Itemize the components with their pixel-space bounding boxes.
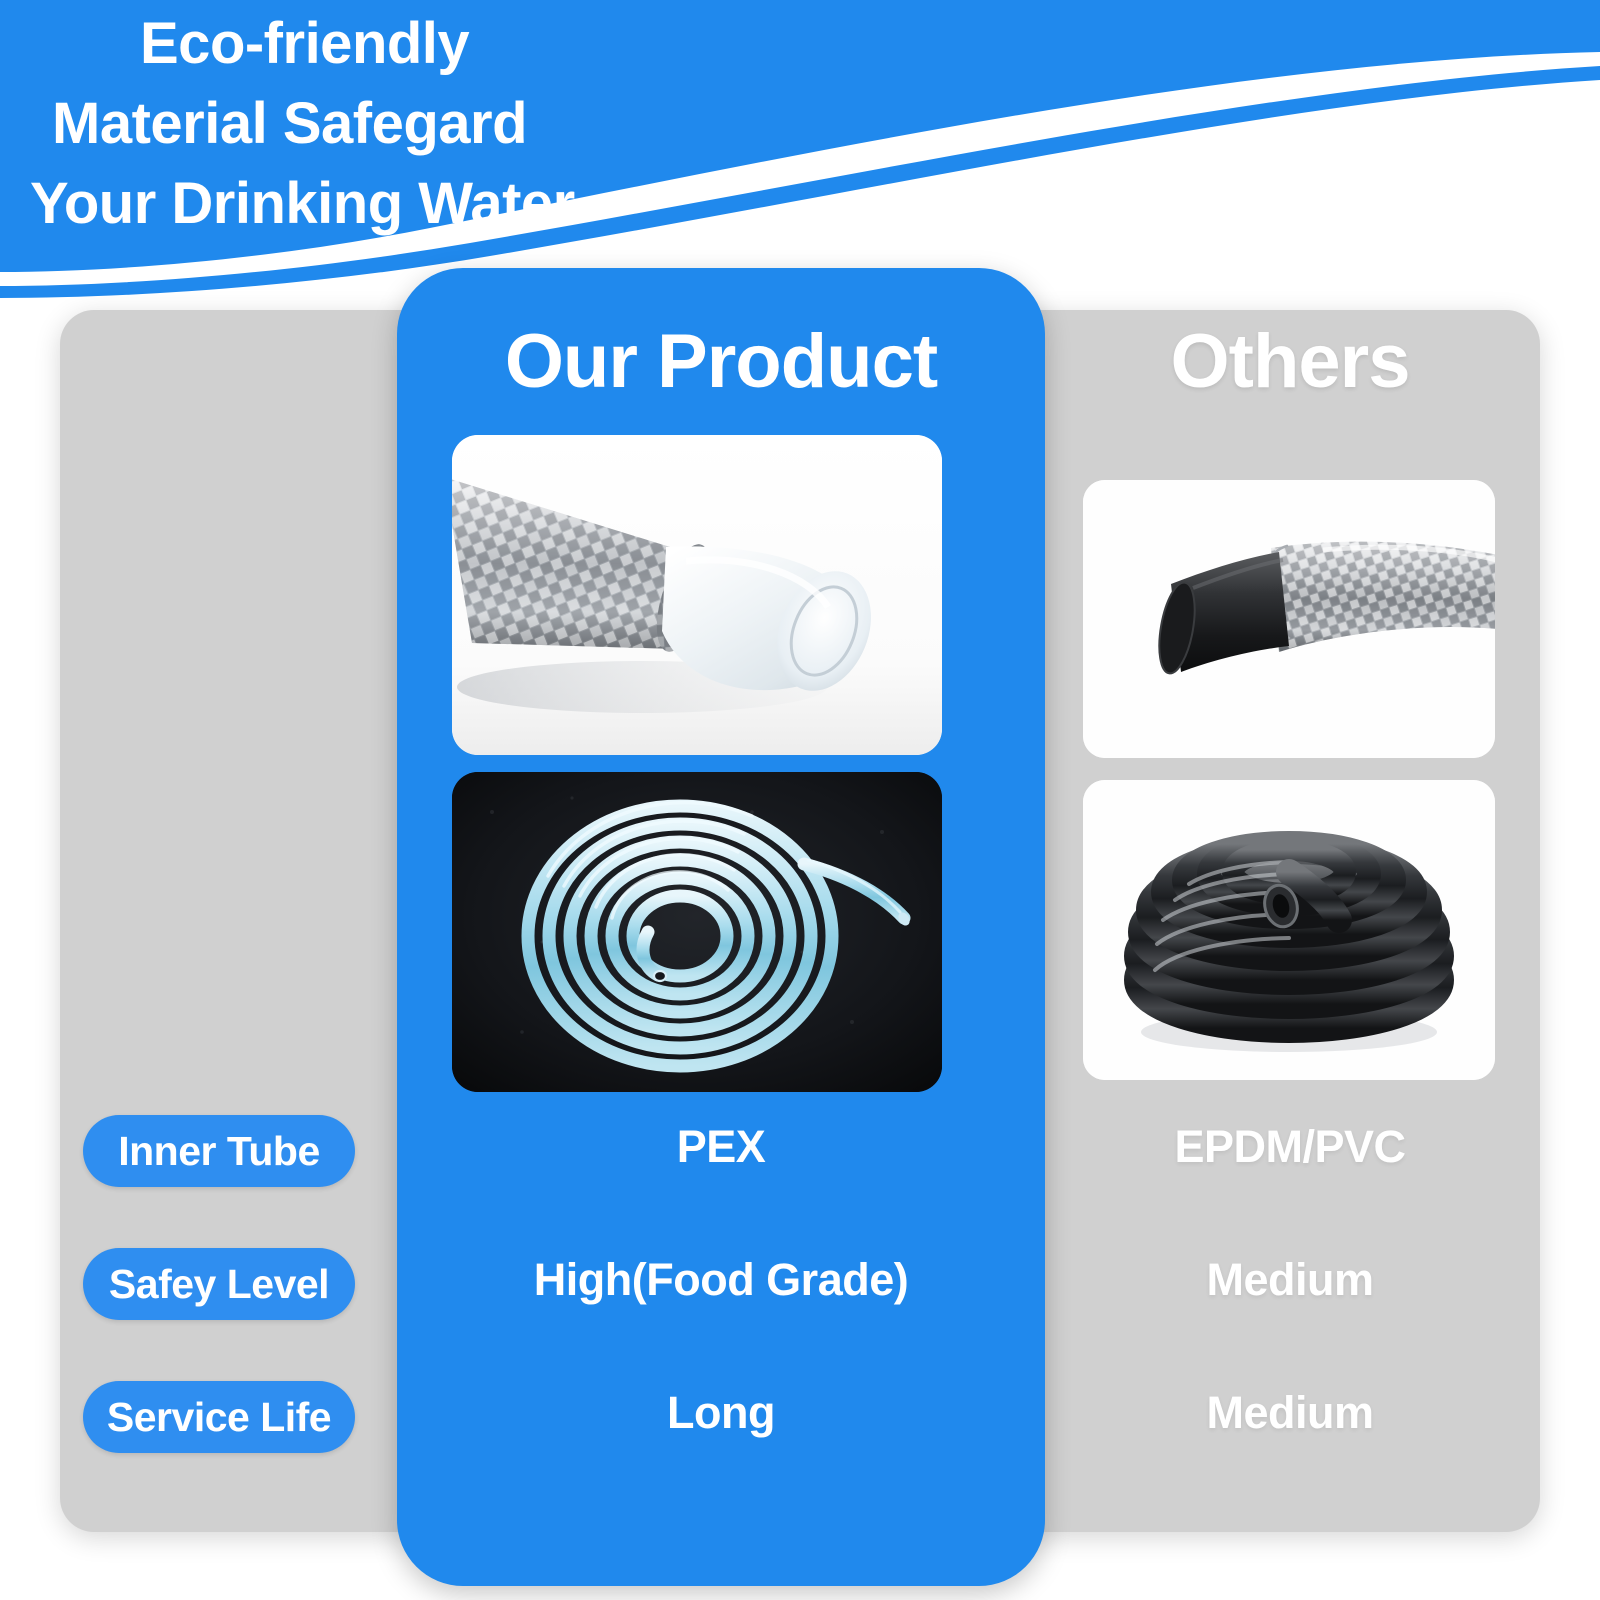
our-product-column-title: Our Product <box>397 318 1045 405</box>
header-banner: Eco-friendly Material Safegard Your Drin… <box>0 0 1600 300</box>
others-column-title: Others <box>1055 318 1525 405</box>
cell-others-inner-tube: EPDM/PVC <box>1055 1121 1525 1173</box>
title-line-1: Eco-friendly <box>140 4 930 84</box>
cell-ours-service-life: Long <box>397 1387 1045 1439</box>
image-braided-hose-with-pex-inner-tube <box>452 435 942 755</box>
row-label-inner-tube: Inner Tube <box>83 1115 355 1187</box>
cell-others-safety-level: Medium <box>1055 1254 1525 1306</box>
row-label-safety-level: Safey Level <box>83 1248 355 1320</box>
page-title: Eco-friendly Material Safegard Your Drin… <box>30 4 930 244</box>
cell-ours-inner-tube: PEX <box>397 1121 1045 1173</box>
image-coiled-clear-pex-tube <box>452 772 942 1092</box>
title-line-2: Material Safegard <box>52 84 930 164</box>
cell-others-service-life: Medium <box>1055 1387 1525 1439</box>
image-braided-hose-with-black-rubber-inner-tube <box>1083 480 1495 758</box>
row-label-service-life: Service Life <box>83 1381 355 1453</box>
image-coiled-black-rubber-hose <box>1083 780 1495 1080</box>
title-line-3: Your Drinking Water <box>30 164 930 244</box>
cell-ours-safety-level: High(Food Grade) <box>397 1254 1045 1306</box>
